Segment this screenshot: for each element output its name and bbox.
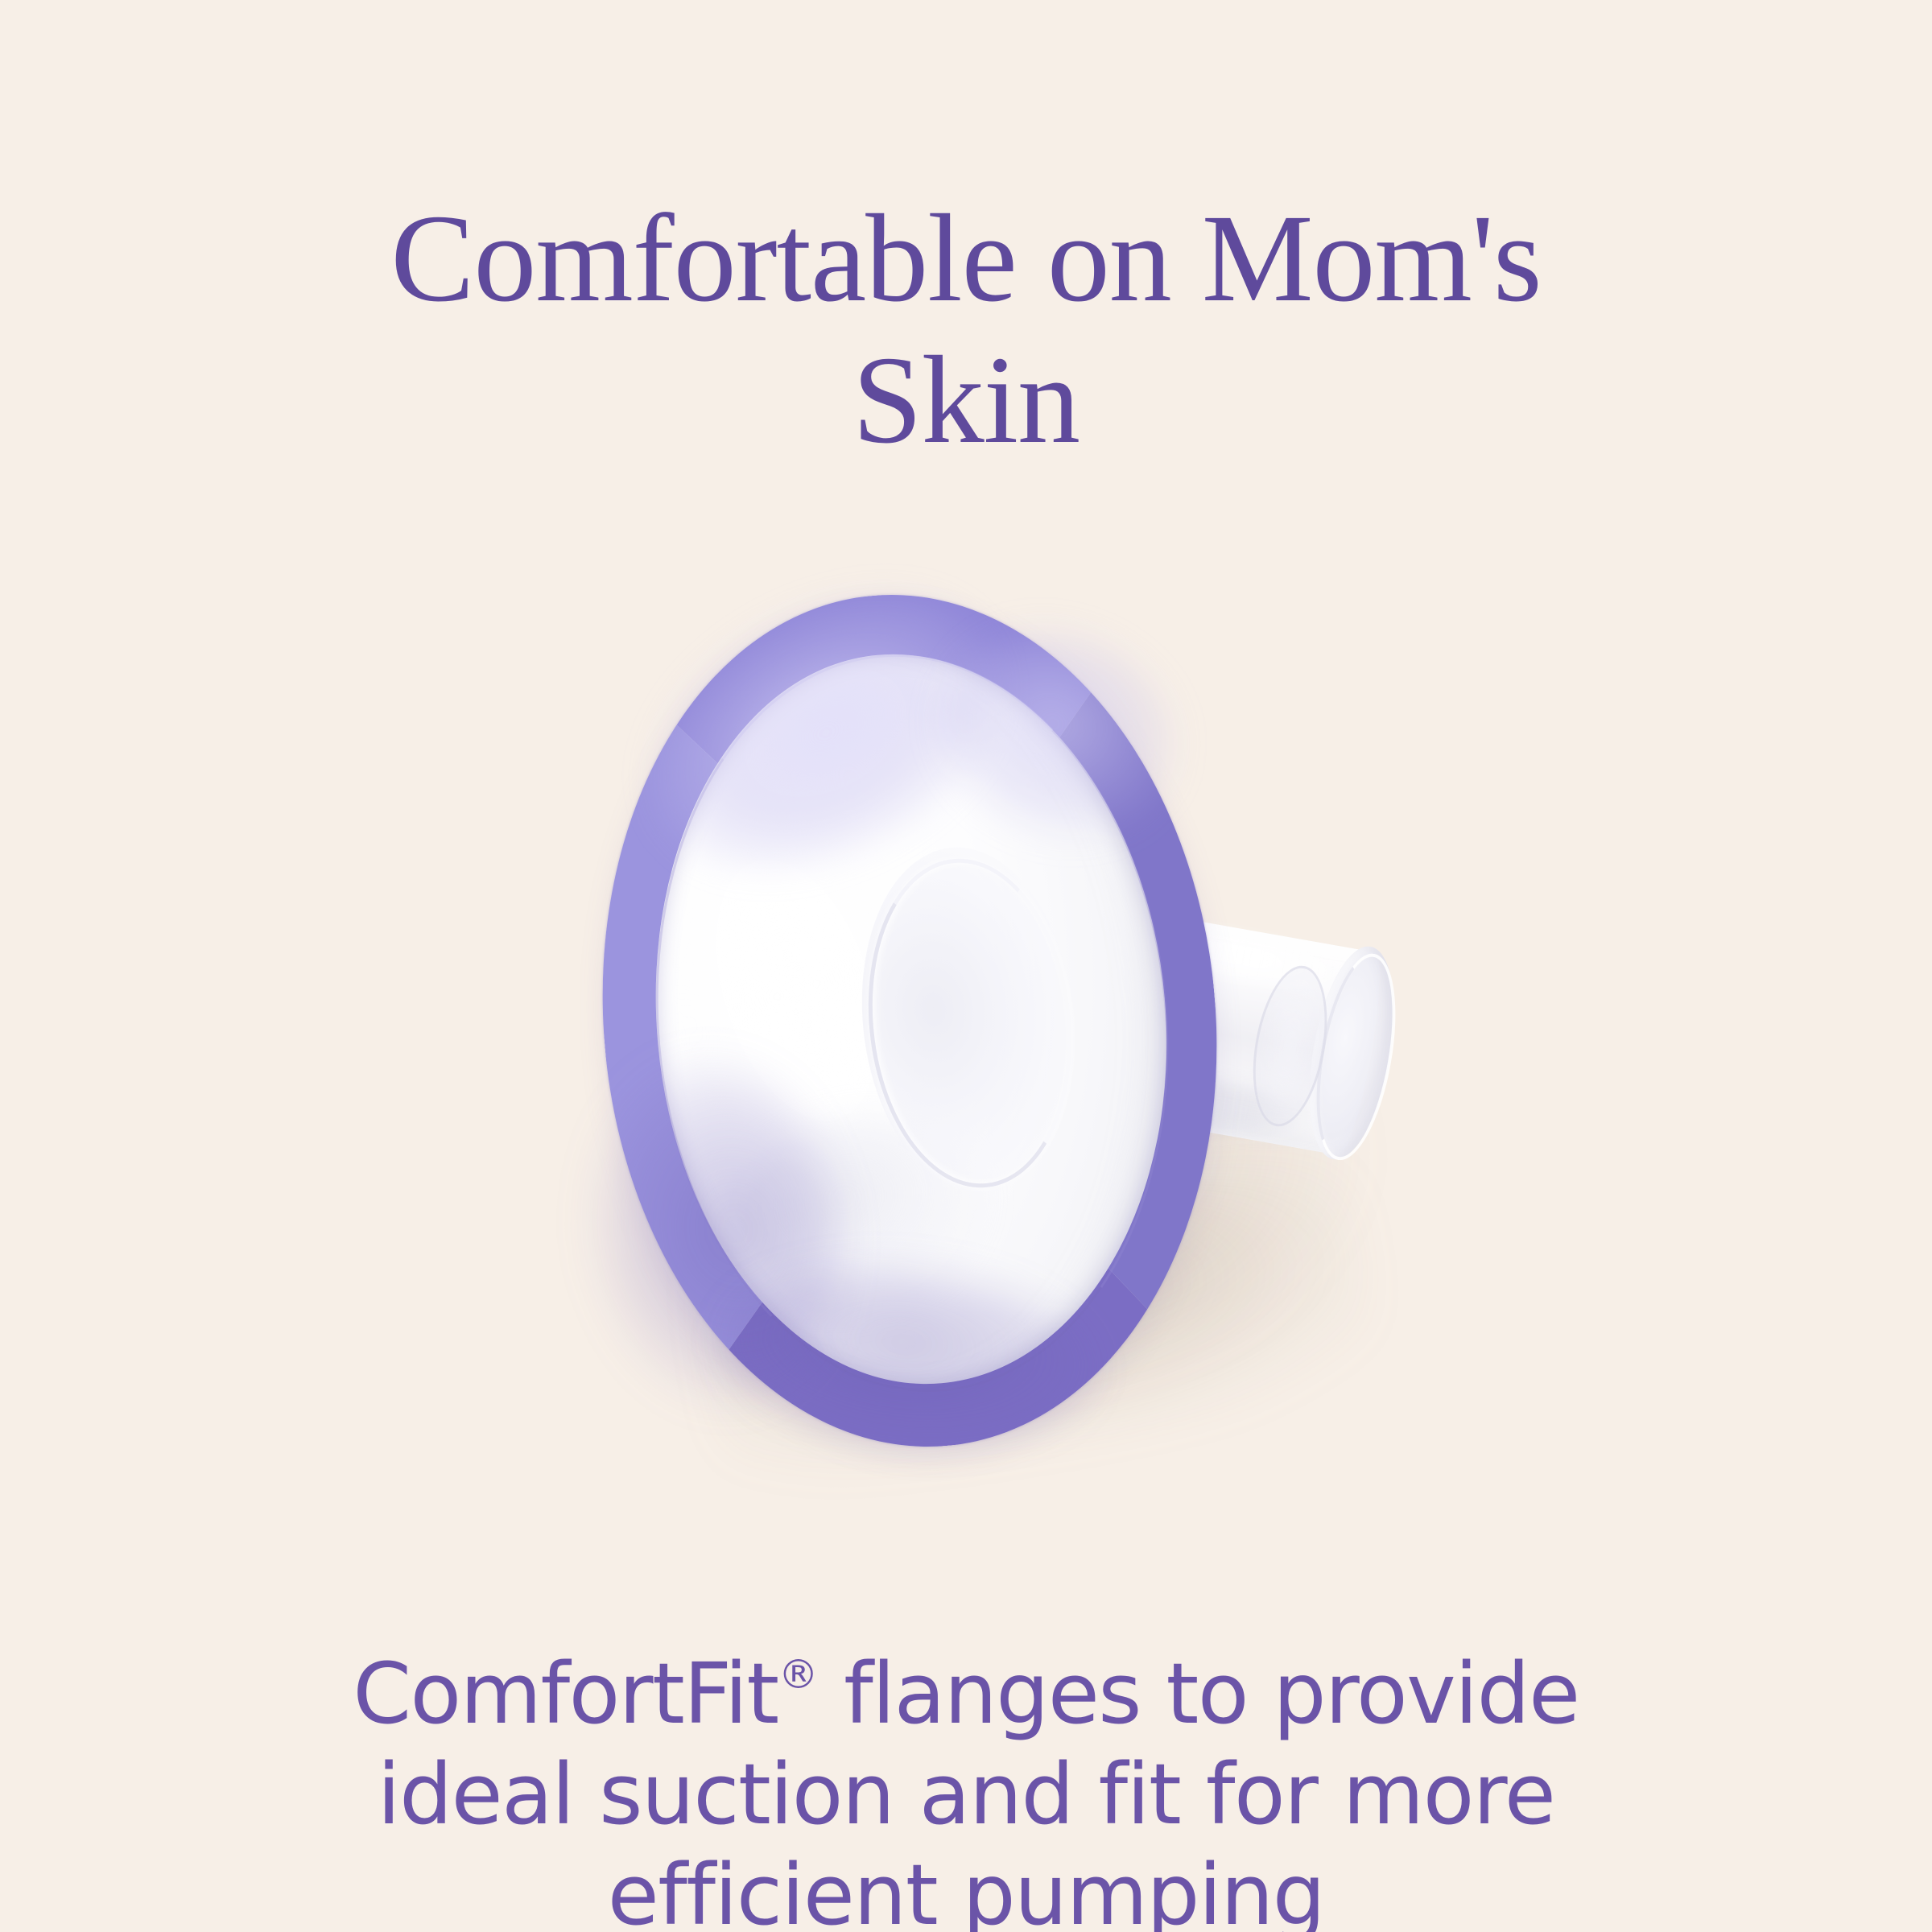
brand-name-comfortfit: ComfortFit xyxy=(353,1645,778,1743)
page-title: Comfortable on Mom's Skin xyxy=(0,188,1932,472)
product-image-breast-pump-flange xyxy=(563,563,1465,1481)
caption-line-1: ComfortFit® flanges to provide xyxy=(0,1644,1932,1744)
caption-line-2: ideal suction and fit for more xyxy=(0,1744,1932,1845)
caption-line-1-rest: flanges to provide xyxy=(819,1645,1579,1743)
product-feature-card: Comfortable on Mom's Skin xyxy=(0,0,1932,1932)
product-caption: ComfortFit® flanges to provide ideal suc… xyxy=(0,1644,1932,1932)
caption-line-3: efficient pumping xyxy=(0,1845,1932,1932)
registered-trademark-icon: ® xyxy=(778,1651,819,1698)
headline-line-1: Comfortable on Mom's xyxy=(0,188,1932,329)
headline-line-2: Skin xyxy=(0,329,1932,471)
